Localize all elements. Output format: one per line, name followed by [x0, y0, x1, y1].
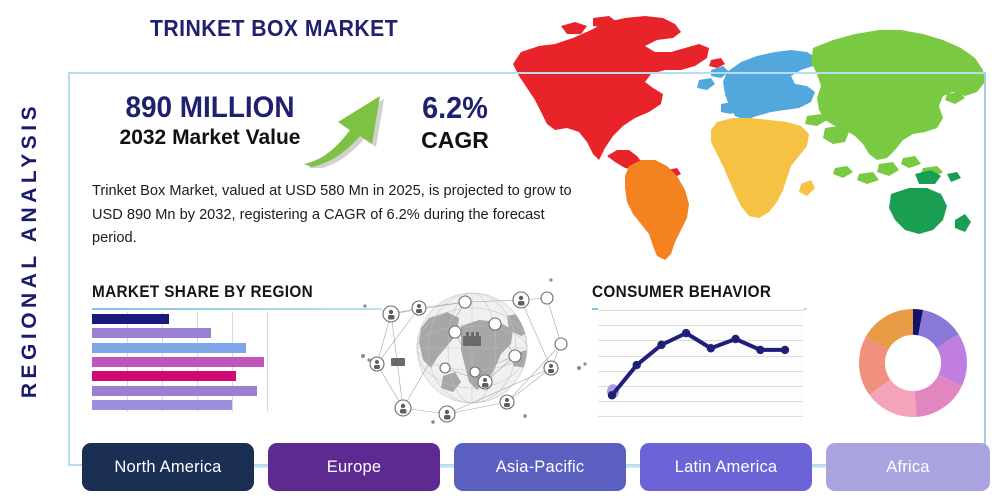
line-gridline [598, 416, 803, 417]
bar [92, 386, 257, 396]
line-marker [657, 341, 665, 349]
line-marker [608, 391, 616, 399]
line-marker [781, 346, 789, 354]
bar-row [92, 343, 267, 353]
bar-row [92, 314, 267, 324]
section-header-consumer-behavior: CONSUMER BEHAVIOR [592, 282, 807, 306]
map-region-south-america [625, 160, 689, 260]
bar-row [92, 371, 267, 381]
line-marker [756, 346, 764, 354]
section-header-consumer-behavior-label: CONSUMER BEHAVIOR [592, 282, 771, 302]
map-region-asia [805, 30, 985, 184]
kpi-cagr-number: 6.2% [399, 92, 511, 125]
kpi-market-value-label: 2032 Market Value [95, 126, 325, 150]
region-connector [812, 466, 826, 468]
region-button-label: Europe [327, 458, 381, 477]
region-connector [626, 466, 640, 468]
consumer-behavior-line-chart [598, 308, 803, 416]
side-label: REGIONAL ANALYSIS [0, 55, 60, 445]
bar [92, 400, 232, 410]
bar-row [92, 400, 267, 410]
bar-row [92, 328, 267, 338]
line-marker [707, 344, 715, 352]
section-header-market-share: MARKET SHARE BY REGION [92, 282, 382, 306]
region-button-label: Africa [886, 458, 929, 477]
map-region-north-america [513, 16, 725, 178]
line-marker [633, 361, 641, 369]
region-button-latin-america[interactable]: Latin America [640, 443, 812, 491]
line-marker [731, 335, 739, 343]
region-button-asia-pacific[interactable]: Asia-Pacific [454, 443, 626, 491]
page-title: TRINKET BOX MARKET [150, 15, 398, 42]
line-series [598, 308, 803, 416]
bar-row [92, 357, 267, 367]
map-region-africa [711, 118, 815, 218]
donut-segments [858, 308, 968, 418]
region-button-north-america[interactable]: North America [82, 443, 254, 491]
bar [92, 357, 264, 367]
bar [92, 314, 169, 324]
side-label-text: REGIONAL ANALYSIS [18, 102, 42, 398]
market-share-bar-chart [92, 312, 267, 412]
region-connector [440, 466, 454, 468]
kpi-market-value: 890 MILLION 2032 Market Value [95, 92, 325, 150]
bar [92, 343, 246, 353]
section-header-market-share-label: MARKET SHARE BY REGION [92, 282, 313, 302]
bar [92, 371, 236, 381]
region-connector [254, 466, 268, 468]
growth-arrow-icon [298, 88, 410, 168]
kpi-market-value-number: 890 MILLION [103, 92, 317, 124]
bar-gridline [267, 312, 268, 412]
description-text: Trinket Box Market, valued at USD 580 Mn… [92, 180, 592, 251]
donut-chart [858, 308, 968, 418]
globe-network-icon [355, 272, 590, 427]
map-region-oceania [889, 170, 971, 234]
region-button-europe[interactable]: Europe [268, 443, 440, 491]
bar [92, 328, 211, 338]
region-buttons-row: North AmericaEuropeAsia-PacificLatin Ame… [82, 443, 990, 491]
section-rule [92, 308, 382, 310]
bar-row [92, 386, 267, 396]
kpi-cagr: 6.2% CAGR [395, 92, 515, 153]
region-button-label: Latin America [675, 458, 778, 477]
line-marker [682, 329, 690, 337]
region-button-label: North America [114, 458, 221, 477]
kpi-cagr-label: CAGR [395, 127, 515, 153]
region-button-africa[interactable]: Africa [826, 443, 990, 491]
region-button-label: Asia-Pacific [496, 458, 585, 477]
